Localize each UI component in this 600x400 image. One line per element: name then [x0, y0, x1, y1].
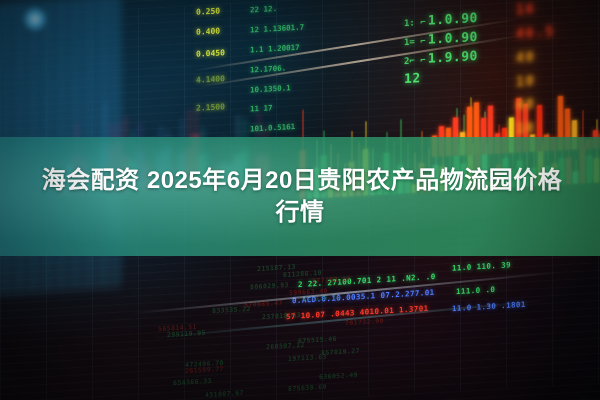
- quote-row: 0.400: [196, 25, 225, 38]
- quote-row: 0.250: [196, 5, 225, 18]
- quote-value: 0.400: [196, 26, 220, 36]
- headline-block: 海会配资 2025年6月20日贵阳农产品物流园价格 行情: [0, 137, 600, 256]
- quote-value: 101.0.5161: [250, 122, 295, 134]
- quote-column-green: 1: ⌐ 1.0.901= ⌐ 1.0.902⌐ ⌐ 1.9.90 12: [404, 10, 478, 90]
- table-row: 111.0 .0: [456, 285, 495, 296]
- lower-quote-table: 2 22. 27100.701 2 11 .N2. .00.ACD.0.10.0…: [0, 258, 600, 400]
- quote-value: 22 12.: [250, 4, 277, 15]
- quote-value: 0.0450: [196, 48, 225, 59]
- quote-row: 12 1.13601.7: [250, 22, 304, 36]
- quote-label: 2⌐ ⌐: [404, 56, 426, 67]
- quote-value: 2.1500: [196, 103, 225, 114]
- table-row: 451087.67: [205, 389, 244, 399]
- table-row: 260507.12: [266, 341, 305, 351]
- quote-row: 16: [516, 0, 555, 21]
- quote-row: 22 12.: [250, 2, 304, 16]
- quote-label: 1: ⌐: [404, 18, 426, 29]
- quote-value: 10: [516, 121, 536, 137]
- market-board-image: 0.2500.4000.04504.14002.1500 22 12.12 1.…: [0, 0, 600, 400]
- table-row: 636052.49: [319, 371, 358, 381]
- quote-value: 1.9.90: [428, 49, 478, 67]
- quote-value: 0.250: [196, 6, 220, 16]
- quote-value: 10.1350.1: [250, 83, 291, 94]
- table-row: 806029.93: [250, 281, 289, 291]
- quote-value: 46.5: [516, 25, 555, 42]
- quote-row: 101.0.5161: [250, 122, 304, 136]
- quote-value: 40: [516, 50, 536, 66]
- headline-line-2: 行情: [276, 198, 325, 228]
- quote-row: 10.1350.1: [250, 82, 304, 96]
- quote-value: 12: [404, 71, 421, 87]
- quote-value: 11 17: [250, 104, 273, 114]
- quote-row: 11 17: [250, 102, 304, 116]
- quote-row: 0.0450: [196, 47, 225, 60]
- table-row: 833535.22: [212, 305, 251, 315]
- quote-column-red: 1646.540104010: [516, 0, 555, 144]
- quote-row: 40: [516, 94, 555, 116]
- table-row: 875639.69: [288, 383, 327, 393]
- quote-value: 12 1.13601.7: [250, 22, 304, 34]
- quote-value: 10: [516, 74, 536, 90]
- quote-value: 16: [516, 2, 536, 18]
- quote-value: 40: [516, 97, 536, 113]
- table-row: 11.0 110. 39: [452, 260, 511, 273]
- quote-row: 40: [516, 47, 555, 69]
- table-row: 197113.63: [288, 353, 327, 363]
- table-row: 654366.33: [173, 377, 212, 387]
- table-row: 261599.77: [185, 365, 224, 375]
- quote-row: 10: [516, 70, 555, 92]
- quote-row: 2.1500: [196, 102, 225, 115]
- headline-line-1: 海会配资 2025年6月20日贵阳农产品物流园价格: [38, 166, 563, 196]
- lens-flare-glow: [22, 6, 48, 32]
- quote-value: 1.1 1.20017: [250, 42, 300, 54]
- quote-label: 1= ⌐: [404, 37, 426, 48]
